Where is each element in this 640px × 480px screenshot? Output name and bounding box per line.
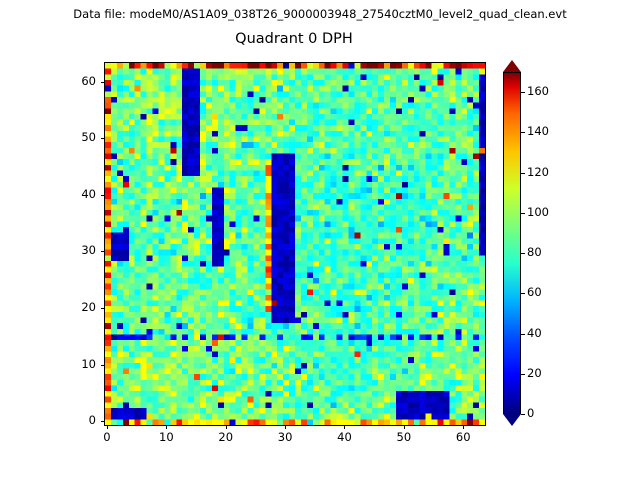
colorbar-tick-label: 0 xyxy=(527,406,534,420)
colorbar-tick-label: 100 xyxy=(527,205,549,219)
colorbar-tick-mark xyxy=(521,173,525,174)
colorbar-tick-label: 160 xyxy=(527,84,549,98)
colorbar-gradient xyxy=(503,72,521,414)
colorbar xyxy=(503,60,521,426)
y-tick-label: 50 xyxy=(56,130,96,144)
colorbar-extend-low-arrow-icon xyxy=(503,414,521,426)
colorbar-tick-mark xyxy=(521,293,525,294)
x-tick-mark xyxy=(344,425,345,429)
y-tick-mark xyxy=(101,195,105,196)
y-tick-label: 40 xyxy=(56,187,96,201)
x-tick-mark xyxy=(285,425,286,429)
heatmap-image xyxy=(105,63,485,425)
y-tick-mark xyxy=(101,251,105,252)
x-tick-mark xyxy=(166,425,167,429)
y-tick-mark xyxy=(101,421,105,422)
x-tick-label: 50 xyxy=(384,430,424,444)
x-tick-label: 10 xyxy=(146,430,186,444)
y-tick-mark xyxy=(101,308,105,309)
data-file-label: Data file: modeM0/AS1A09_038T26_90000039… xyxy=(0,7,640,21)
y-tick-label: 20 xyxy=(56,300,96,314)
x-tick-label: 40 xyxy=(324,430,364,444)
colorbar-tick-mark xyxy=(521,92,525,93)
y-tick-label: 10 xyxy=(56,357,96,371)
colorbar-tick-mark xyxy=(521,334,525,335)
y-tick-mark xyxy=(101,365,105,366)
colorbar-tick-mark xyxy=(521,213,525,214)
page-title: Quadrant 0 DPH xyxy=(0,31,588,47)
y-tick-label: 0 xyxy=(56,413,96,427)
colorbar-tick-mark xyxy=(521,132,525,133)
matplotlib-figure: Data file: modeM0/AS1A09_038T26_90000039… xyxy=(0,0,640,480)
y-tick-mark xyxy=(101,138,105,139)
y-tick-label: 60 xyxy=(56,74,96,88)
y-tick-label: 30 xyxy=(56,243,96,257)
colorbar-extend-high-arrow-icon xyxy=(503,60,521,72)
heatmap-axes xyxy=(104,62,486,426)
x-tick-mark xyxy=(107,425,108,429)
colorbar-tick-label: 40 xyxy=(527,326,542,340)
x-tick-label: 0 xyxy=(87,430,127,444)
x-tick-label: 30 xyxy=(265,430,305,444)
x-tick-label: 20 xyxy=(206,430,246,444)
colorbar-tick-label: 20 xyxy=(527,366,542,380)
colorbar-tick-mark xyxy=(521,374,525,375)
x-tick-mark xyxy=(463,425,464,429)
colorbar-tick-mark xyxy=(521,253,525,254)
colorbar-tick-label: 80 xyxy=(527,245,542,259)
colorbar-tick-label: 60 xyxy=(527,285,542,299)
x-tick-mark xyxy=(404,425,405,429)
colorbar-tick-mark xyxy=(521,414,525,415)
colorbar-tick-label: 140 xyxy=(527,124,549,138)
y-tick-mark xyxy=(101,82,105,83)
x-tick-mark xyxy=(226,425,227,429)
x-tick-label: 60 xyxy=(443,430,483,444)
colorbar-tick-label: 120 xyxy=(527,165,549,179)
